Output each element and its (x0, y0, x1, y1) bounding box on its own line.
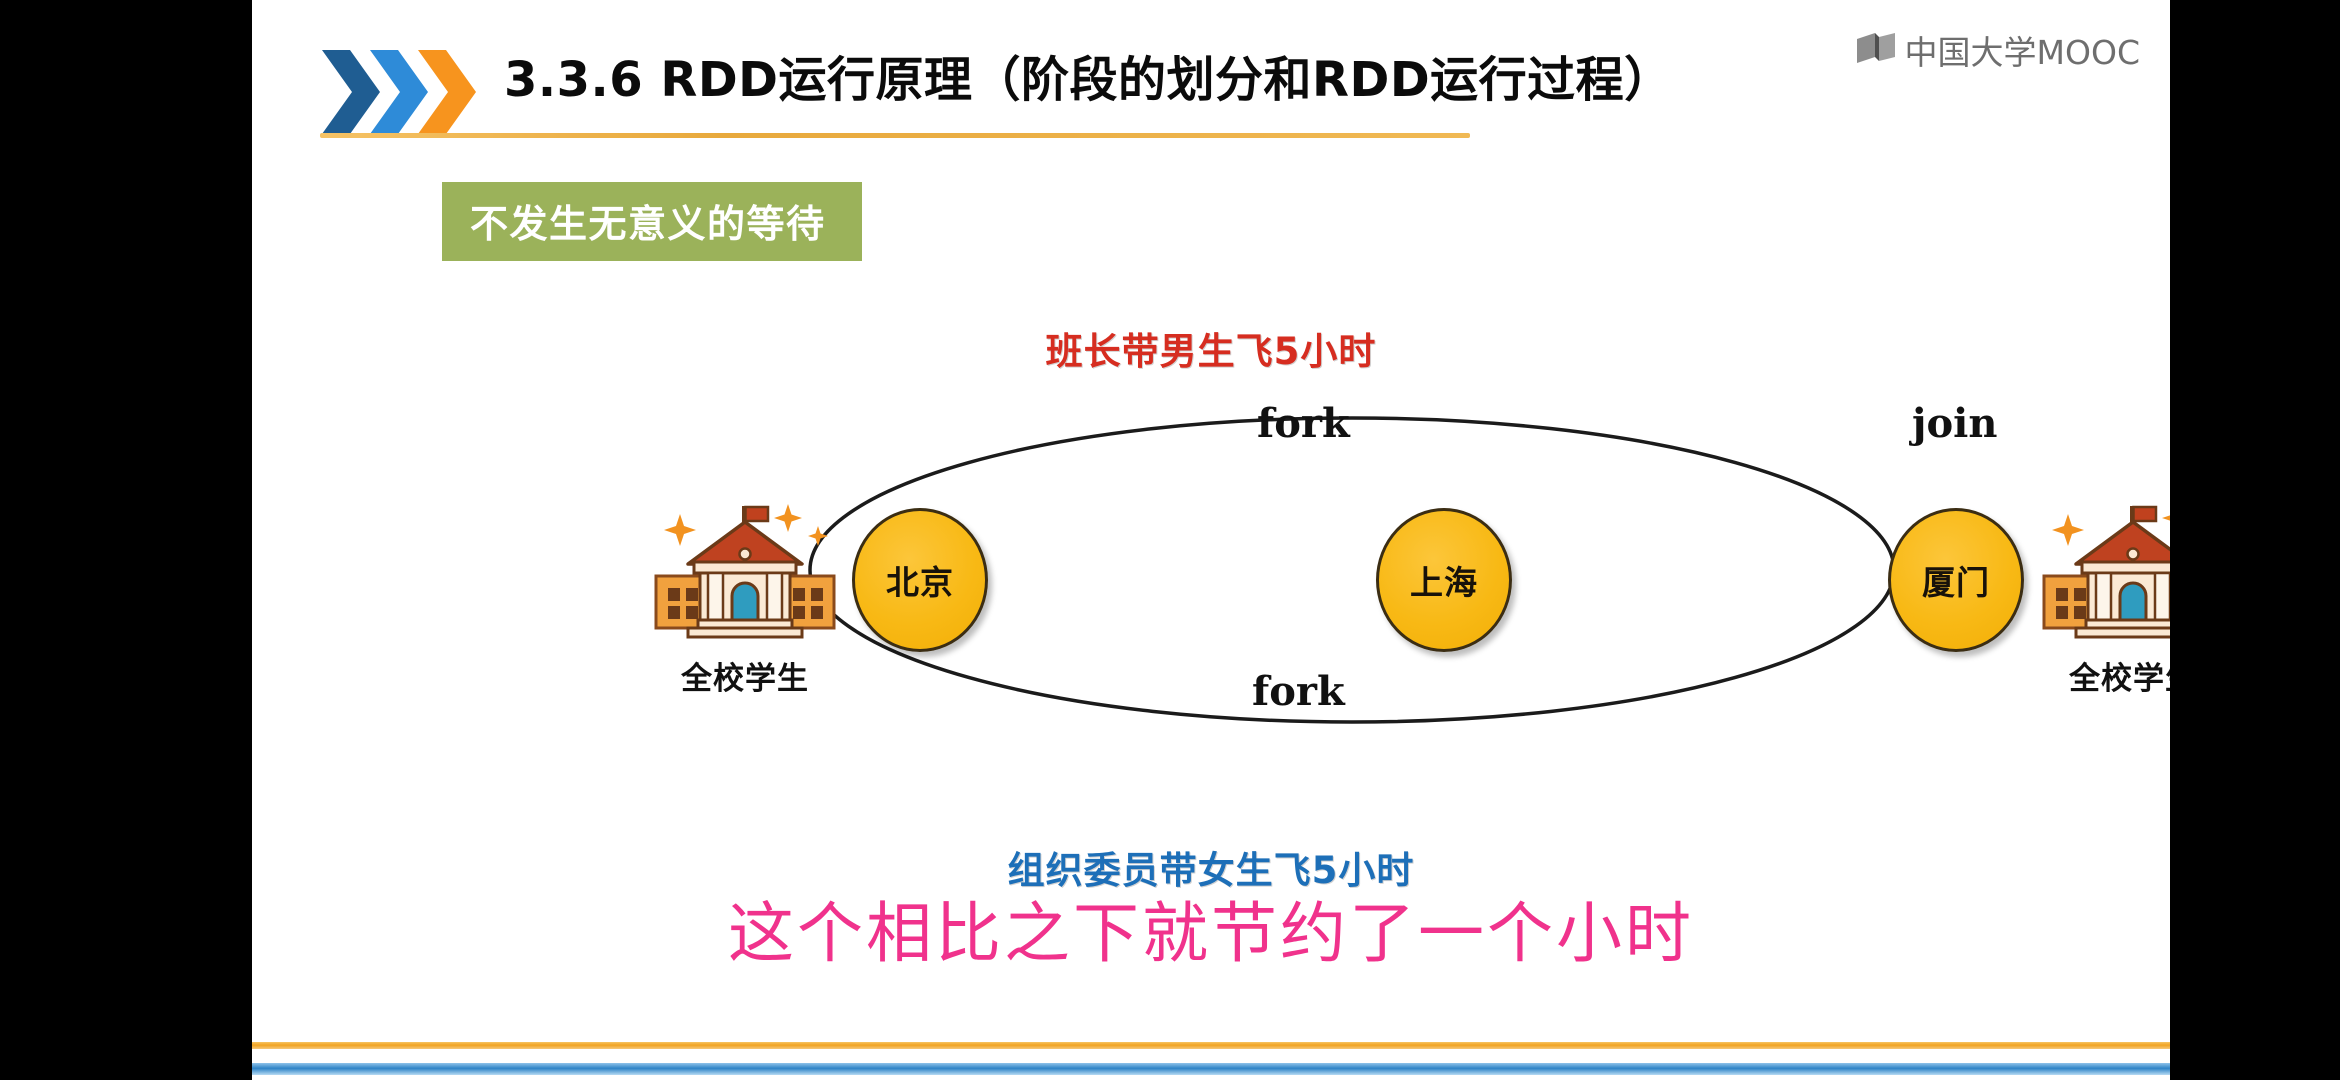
triple-chevron-right-icon (320, 46, 480, 138)
slide-header: 3.3.6 RDD运行原理（阶段的划分和RDD运行过程） 中国大学MOOC (252, 0, 2170, 160)
slide-canvas: 3.3.6 RDD运行原理（阶段的划分和RDD运行过程） 中国大学MOOC 不发… (252, 0, 2170, 1080)
school-right: 全校学生 (2038, 492, 2170, 698)
mooc-logo: 中国大学MOOC (1855, 26, 2140, 74)
rdd-fork-join-diagram: 班长带男生飞5小时 fork fork join (252, 300, 2170, 860)
node-shanghai: 上海 (1376, 508, 1512, 652)
node-xiamen: 厦门 (1888, 508, 2024, 652)
video-player-stage: 3.3.6 RDD运行原理（阶段的划分和RDD运行过程） 中国大学MOOC 不发… (0, 0, 2340, 1080)
fork-label-bottom: fork (1252, 668, 1345, 715)
subtitle-caption: 这个相比之下就节约了一个小时 (252, 880, 2170, 976)
node-beijing-label: 北京 (886, 556, 954, 604)
node-xiamen-label: 厦门 (1922, 556, 1990, 604)
school-building-icon (2038, 629, 2170, 646)
fork-label-top: fork (1257, 400, 1350, 447)
fork-join-oval-path (252, 360, 2170, 780)
node-shanghai-label: 上海 (1410, 556, 1478, 604)
book-icon (1855, 31, 1897, 70)
school-building-icon (650, 629, 840, 646)
footer-blue-rule (252, 1063, 2170, 1075)
footer-orange-rule (252, 1042, 2170, 1049)
status-badge: 不发生无意义的等待 (442, 182, 862, 261)
title-underline-rule (320, 133, 1470, 138)
school-right-label: 全校学生 (2038, 653, 2170, 698)
school-left: 全校学生 (650, 492, 840, 698)
letterbox-right (2170, 0, 2340, 1080)
school-left-label: 全校学生 (650, 653, 840, 698)
node-beijing: 北京 (852, 508, 988, 652)
mooc-logo-text: 中国大学MOOC (1905, 26, 2140, 74)
page-title: 3.3.6 RDD运行原理（阶段的划分和RDD运行过程） (504, 40, 1673, 110)
status-badge-label: 不发生无意义的等待 (470, 202, 826, 246)
letterbox-left (0, 0, 252, 1080)
join-label: join (1912, 400, 1997, 447)
